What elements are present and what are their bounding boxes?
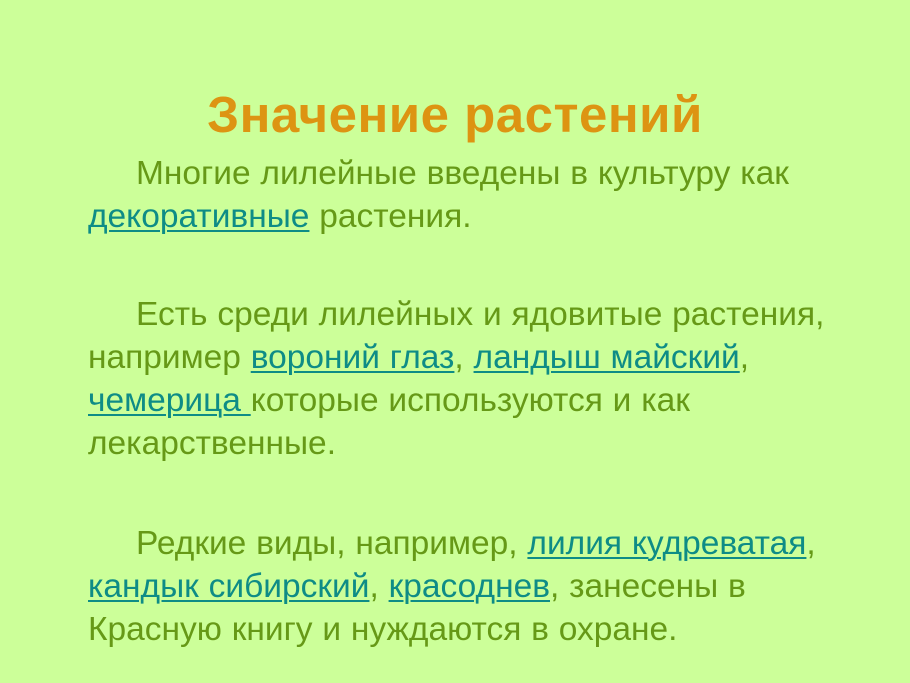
hyperlink[interactable]: ландыш майский xyxy=(474,339,740,376)
page-title: Значение растений xyxy=(0,88,910,142)
paragraph-text-run: Редкие виды, например, xyxy=(136,525,527,562)
paragraph-text-run: растения. xyxy=(309,198,471,235)
paragraph-1: Многие лилейные введены в культуру как д… xyxy=(88,152,848,238)
hyperlink[interactable]: красоднев xyxy=(389,568,550,605)
hyperlink[interactable]: кандык сибирский xyxy=(88,568,369,605)
hyperlink[interactable]: чемерица xyxy=(88,382,251,419)
paragraph-text-run: Многие лилейные введены в культуру как xyxy=(136,155,789,192)
hyperlink[interactable]: декоративные xyxy=(88,198,309,235)
paragraph-3: Редкие виды, например, лилия кудреватая,… xyxy=(88,522,848,651)
paragraph-text-run: , xyxy=(454,339,473,376)
paragraph-text-run: , xyxy=(806,525,815,562)
hyperlink[interactable]: лилия кудреватая xyxy=(527,525,806,562)
paragraph-text-run: , xyxy=(369,568,388,605)
paragraph-text-run: , xyxy=(740,339,749,376)
hyperlink[interactable]: вороний глаз xyxy=(251,339,455,376)
paragraph-2: Есть среди лилейных и ядовитые растения,… xyxy=(88,293,848,465)
presentation-slide: Значение растений Многие лилейные введен… xyxy=(0,0,910,683)
slide-body: Многие лилейные введены в культуру как д… xyxy=(88,152,848,651)
